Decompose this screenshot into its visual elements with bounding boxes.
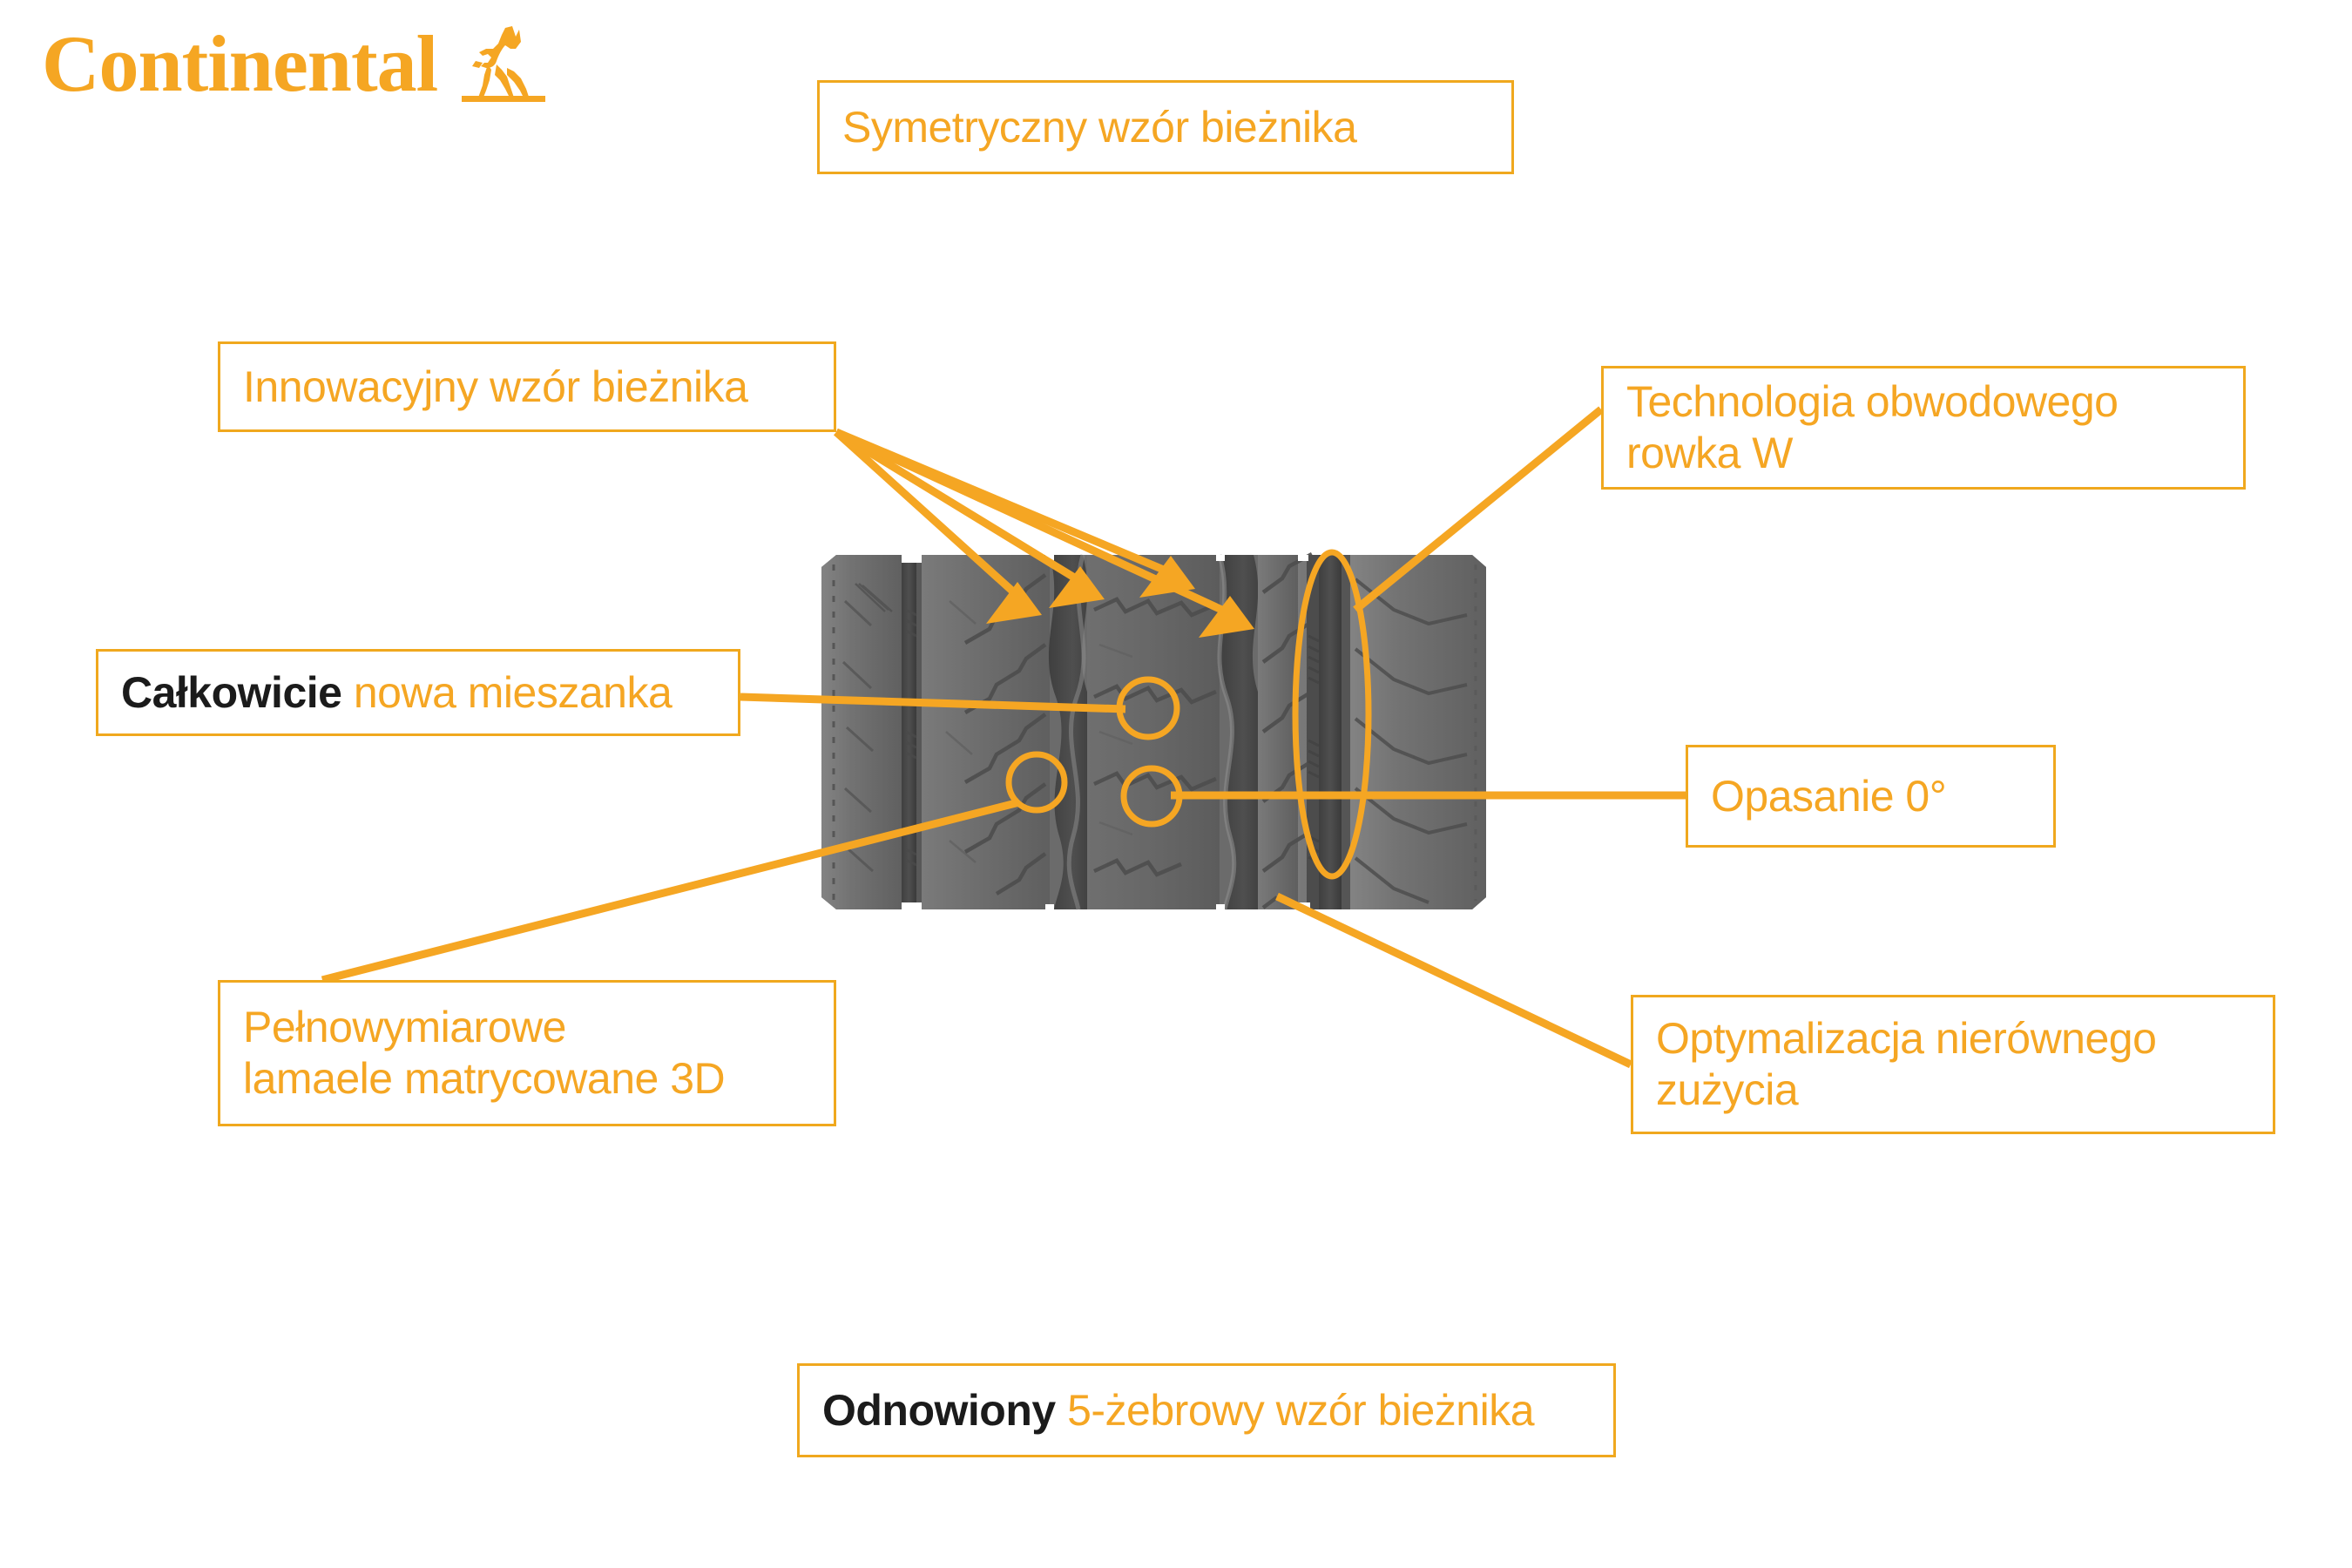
rib-2 [922, 555, 1050, 909]
diagram-canvas: Continental [0, 0, 2352, 1568]
callout-line-2: zużycia [1656, 1064, 2250, 1116]
callout-technologia: Technologia obwodowego rowka W [1601, 366, 2246, 490]
callout-line: Symetryczny wzór bieżnika [842, 102, 1489, 153]
callout-line-2: rowka W [1626, 428, 2220, 479]
groove-w-left [1307, 555, 1319, 909]
callout-line: Całkowicie nowa mieszanka [121, 667, 715, 719]
callout-line-1: Pełnowymiarowe [243, 1002, 811, 1053]
groove-w-main [1319, 555, 1342, 909]
callout-opasanie: Opasanie 0° [1686, 745, 2056, 848]
callout-line: Opasanie 0° [1711, 771, 2031, 822]
callout-line: Innowacyjny wzór bieżnika [243, 362, 811, 413]
callout-symetryczny: Symetryczny wzór bieżnika [817, 80, 1514, 174]
callout-line-1: Optymalizacja nierównego [1656, 1013, 2250, 1064]
callout-line-2: lamaele matrycowane 3D [243, 1053, 811, 1105]
callout-odnowiony: Odnowiony 5-żebrowy wzór bieżnika [797, 1363, 1616, 1457]
callout-line: Odnowiony 5-żebrowy wzór bieżnika [822, 1385, 1591, 1436]
tire-body [821, 554, 1486, 910]
callout-calkowicie: Całkowicie nowa mieszanka [96, 649, 740, 736]
callout-line-1: Technologia obwodowego [1626, 376, 2220, 428]
callout-pelnowymiarowe: Pełnowymiarowe lamaele matrycowane 3D [218, 980, 836, 1126]
callout-innowacyjny: Innowacyjny wzór bieżnika [218, 341, 836, 432]
callout-optymalizacja: Optymalizacja nierównego zużycia [1631, 995, 2275, 1134]
